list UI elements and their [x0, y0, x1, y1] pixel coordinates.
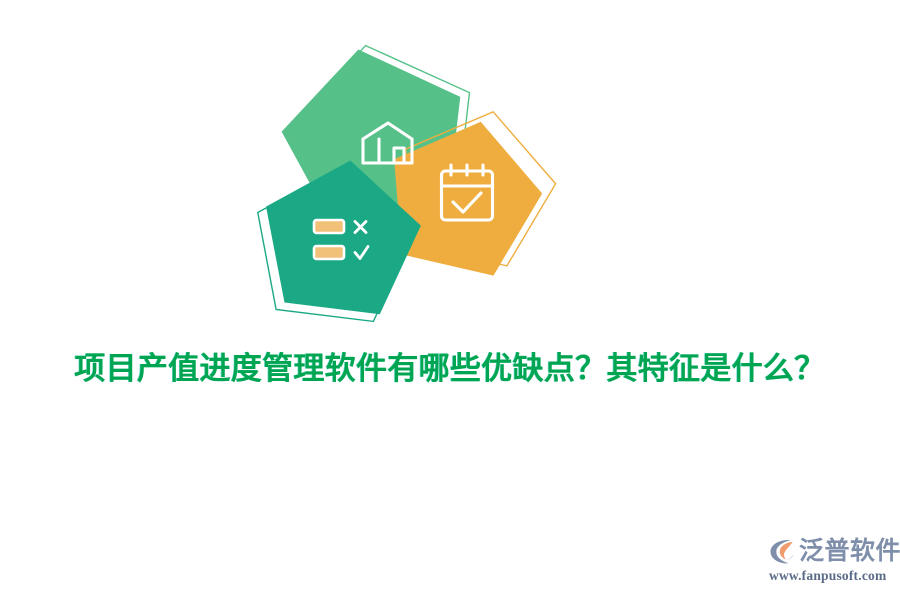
page-canvas: 项目产值进度管理软件有哪些优缺点？其特征是什么？ 泛普软件 www.fanpus… [0, 0, 900, 600]
page-title: 项目产值进度管理软件有哪些优缺点？其特征是什么？ [0, 347, 900, 391]
logo-row: 泛普软件 [768, 536, 893, 567]
fanpu-c-mark-icon [768, 537, 797, 566]
logo-wordmark: 泛普软件 [799, 537, 900, 566]
hero-illustration [262, 38, 552, 318]
checklist-bar-1 [314, 220, 344, 233]
checklist-bar-2 [314, 246, 344, 259]
brand-logo[interactable]: 泛普软件 www.fanpusoft.com [768, 536, 893, 586]
logo-url: www.fanpusoft.com [768, 568, 893, 584]
